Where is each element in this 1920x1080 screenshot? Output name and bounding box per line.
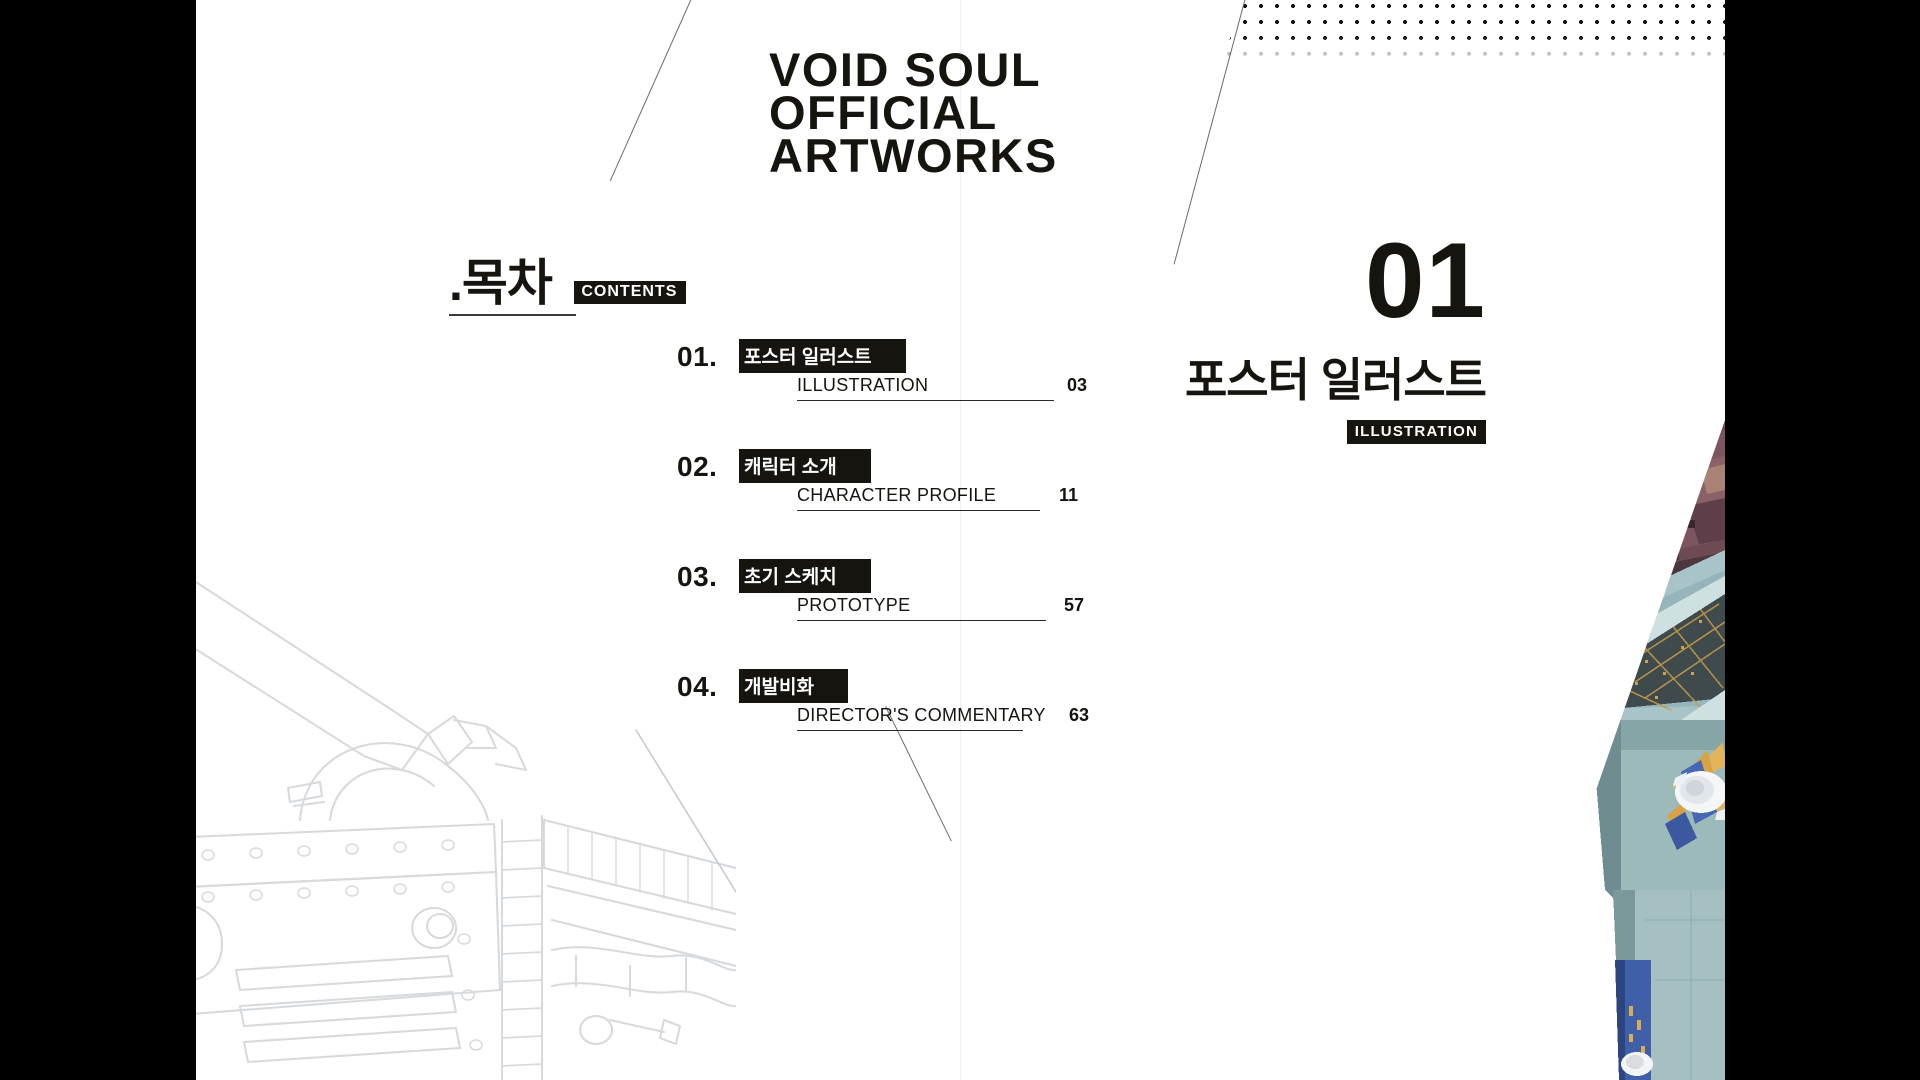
toc-entry-title-kr: 개발비화 <box>739 669 848 703</box>
toc-entry-leader-rule <box>797 620 1046 621</box>
chapter-title-kr: 포스터 일러스트 <box>1185 357 1486 403</box>
toc-entry-title-kr: 초기 스케치 <box>739 559 871 593</box>
screenshot-canvas: VOID SOUL OFFICIAL ARTWORKS .목차 CONTENTS… <box>0 0 1920 1080</box>
mech-tank-svg <box>196 520 736 1080</box>
toc-entry-number: 02. <box>677 451 717 483</box>
toc-entry-title-kr: 포스터 일러스트 <box>739 339 906 373</box>
contents-heading: .목차 CONTENTS <box>449 258 686 308</box>
chapter-title-en-badge: ILLUSTRATION <box>1347 420 1486 444</box>
book-title-line-3: ARTWORKS <box>769 134 1058 177</box>
toc-entry-title-kr: 캐릭터 소개 <box>739 449 871 483</box>
pixel-art-illustration <box>1495 420 1725 1080</box>
chapter-number: 01 <box>1365 227 1486 334</box>
toc-entry-page: 11 <box>1059 485 1078 506</box>
contents-heading-kr: .목차 <box>449 258 552 308</box>
toc-entry-page: 57 <box>1064 595 1084 616</box>
halftone-dot-pattern <box>1221 0 1725 60</box>
contents-heading-rule <box>449 314 576 316</box>
contents-heading-en-badge: CONTENTS <box>574 281 686 304</box>
book-spread: VOID SOUL OFFICIAL ARTWORKS .목차 CONTENTS… <box>196 0 1725 1080</box>
book-title-line-1: VOID SOUL <box>769 48 1058 91</box>
toc-entry-title-en: CHARACTER PROFILE <box>797 485 996 506</box>
toc-entry-number: 01. <box>677 341 717 373</box>
toc-entry-leader-rule <box>797 730 1023 731</box>
toc-entry-page: 03 <box>1067 375 1087 396</box>
diagonal-line-left <box>609 0 694 181</box>
toc-entry-page: 63 <box>1069 705 1089 726</box>
toc-entry-leader-rule <box>797 400 1054 401</box>
toc-entry-leader-rule <box>797 510 1040 511</box>
toc-entry-title-en: PROTOTYPE <box>797 595 910 616</box>
book-title-line-2: OFFICIAL <box>769 91 1058 134</box>
toc-entry[interactable]: 01. 포스터 일러스트 ILLUSTRATION 03 <box>449 335 1089 445</box>
toc-entry-title-en: ILLUSTRATION <box>797 375 928 396</box>
mech-tank-line-art <box>196 520 736 1080</box>
book-title: VOID SOUL OFFICIAL ARTWORKS <box>769 48 1058 178</box>
toc-entry-title-en: DIRECTOR'S COMMENTARY <box>797 705 1046 726</box>
pixel-art-svg <box>1495 420 1725 1080</box>
